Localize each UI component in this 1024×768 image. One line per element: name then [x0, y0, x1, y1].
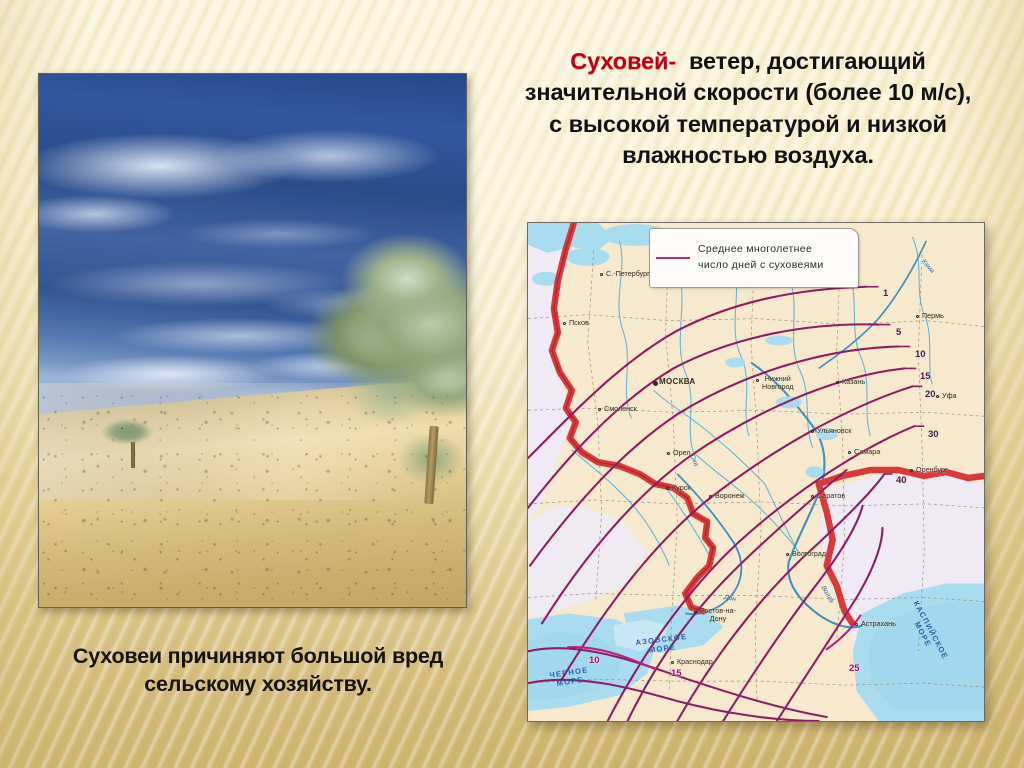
- title-body-line-1: ветер, достигающий: [689, 48, 926, 74]
- legend-line-swatch: [656, 257, 690, 259]
- city-label-10: Оренбург: [916, 465, 948, 474]
- city-marker-7: [936, 395, 939, 398]
- city-label-17: Краснодар: [677, 657, 713, 666]
- map-legend: Среднее многолетнее число дней с суховея…: [649, 228, 859, 288]
- city-label-16: Ростов-на- Дону: [700, 607, 736, 623]
- city-label-15: Волгоград: [792, 549, 826, 558]
- isoline-label-15-8: 15: [671, 668, 682, 679]
- photo-caption: Суховеи причиняют большой вред сельскому…: [18, 643, 498, 699]
- city-label-3: Смоленск: [604, 404, 637, 413]
- city-marker-13: [709, 495, 712, 498]
- caption-line-1: Суховеи причиняют большой вред: [73, 644, 443, 668]
- city-label-2: МОСКВА: [659, 377, 696, 386]
- title-dash: -: [668, 48, 676, 74]
- city-marker-0: [600, 273, 603, 276]
- city-marker-11: [667, 452, 670, 455]
- title-body-line-2: значительной скорости (более 10 м/с),: [525, 79, 971, 105]
- distant-tree-trunk: [131, 442, 135, 468]
- city-label-8: Ульяновск: [817, 426, 851, 435]
- legend-label: Среднее многолетнее число дней с суховея…: [698, 242, 824, 273]
- isoline-label-40-6: 40: [896, 475, 907, 486]
- isoline-label-10-9: 10: [589, 655, 600, 666]
- isoline-label-30-5: 30: [928, 429, 939, 440]
- city-label-7: Уфа: [942, 391, 956, 400]
- city-marker-8: [811, 430, 814, 433]
- isoline-label-10-2: 10: [915, 349, 926, 360]
- city-label-0: С.-Петербург: [606, 269, 650, 278]
- city-marker-12: [666, 487, 669, 490]
- sukhovey-days-map: Среднее многолетнее число дней с суховея…: [527, 222, 985, 722]
- title-body-line-4: влажностью воздуха.: [622, 142, 874, 168]
- isoline-label-15-3: 15: [920, 371, 931, 382]
- city-marker-2: [653, 381, 658, 386]
- city-label-9: Самара: [854, 447, 880, 456]
- city-marker-4: [756, 379, 759, 382]
- city-marker-14: [811, 495, 814, 498]
- soil-speckle-texture: [39, 392, 466, 607]
- caption-line-2: сельскому хозяйству.: [144, 672, 372, 696]
- page-title: Суховей- ветер, достигающий значительной…: [486, 46, 1010, 171]
- title-term: Суховей: [570, 48, 668, 74]
- city-label-4: Нижний Новгород: [762, 375, 794, 391]
- city-marker-5: [836, 381, 839, 384]
- city-marker-18: [855, 623, 858, 626]
- city-marker-6: [916, 315, 919, 318]
- isoline-label-1-0: 1: [883, 288, 888, 299]
- landscape-photo: [38, 73, 467, 608]
- city-label-6: Пермь: [922, 311, 944, 320]
- city-marker-17: [671, 661, 674, 664]
- city-label-1: Псков: [569, 318, 589, 327]
- city-marker-10: [910, 469, 913, 472]
- isoline-label-20-4: 20: [925, 389, 936, 400]
- city-marker-9: [848, 451, 851, 454]
- city-marker-15: [786, 553, 789, 556]
- city-label-12: Курск: [672, 483, 690, 492]
- slide-canvas: Суховей- ветер, достигающий значительной…: [0, 0, 1024, 768]
- city-label-13: Воронеж: [715, 491, 744, 500]
- city-label-14: Саратов: [817, 491, 845, 500]
- city-label-18: Астрахань: [861, 619, 896, 628]
- city-marker-3: [598, 408, 601, 411]
- isoline-label-25-7: 25: [849, 663, 860, 674]
- isoline-label-5-1: 5: [896, 327, 901, 338]
- title-body-line-3: с высокой температурой и низкой: [549, 111, 947, 137]
- city-label-5: Казань: [842, 377, 865, 386]
- city-marker-16: [694, 611, 697, 614]
- city-marker-1: [563, 322, 566, 325]
